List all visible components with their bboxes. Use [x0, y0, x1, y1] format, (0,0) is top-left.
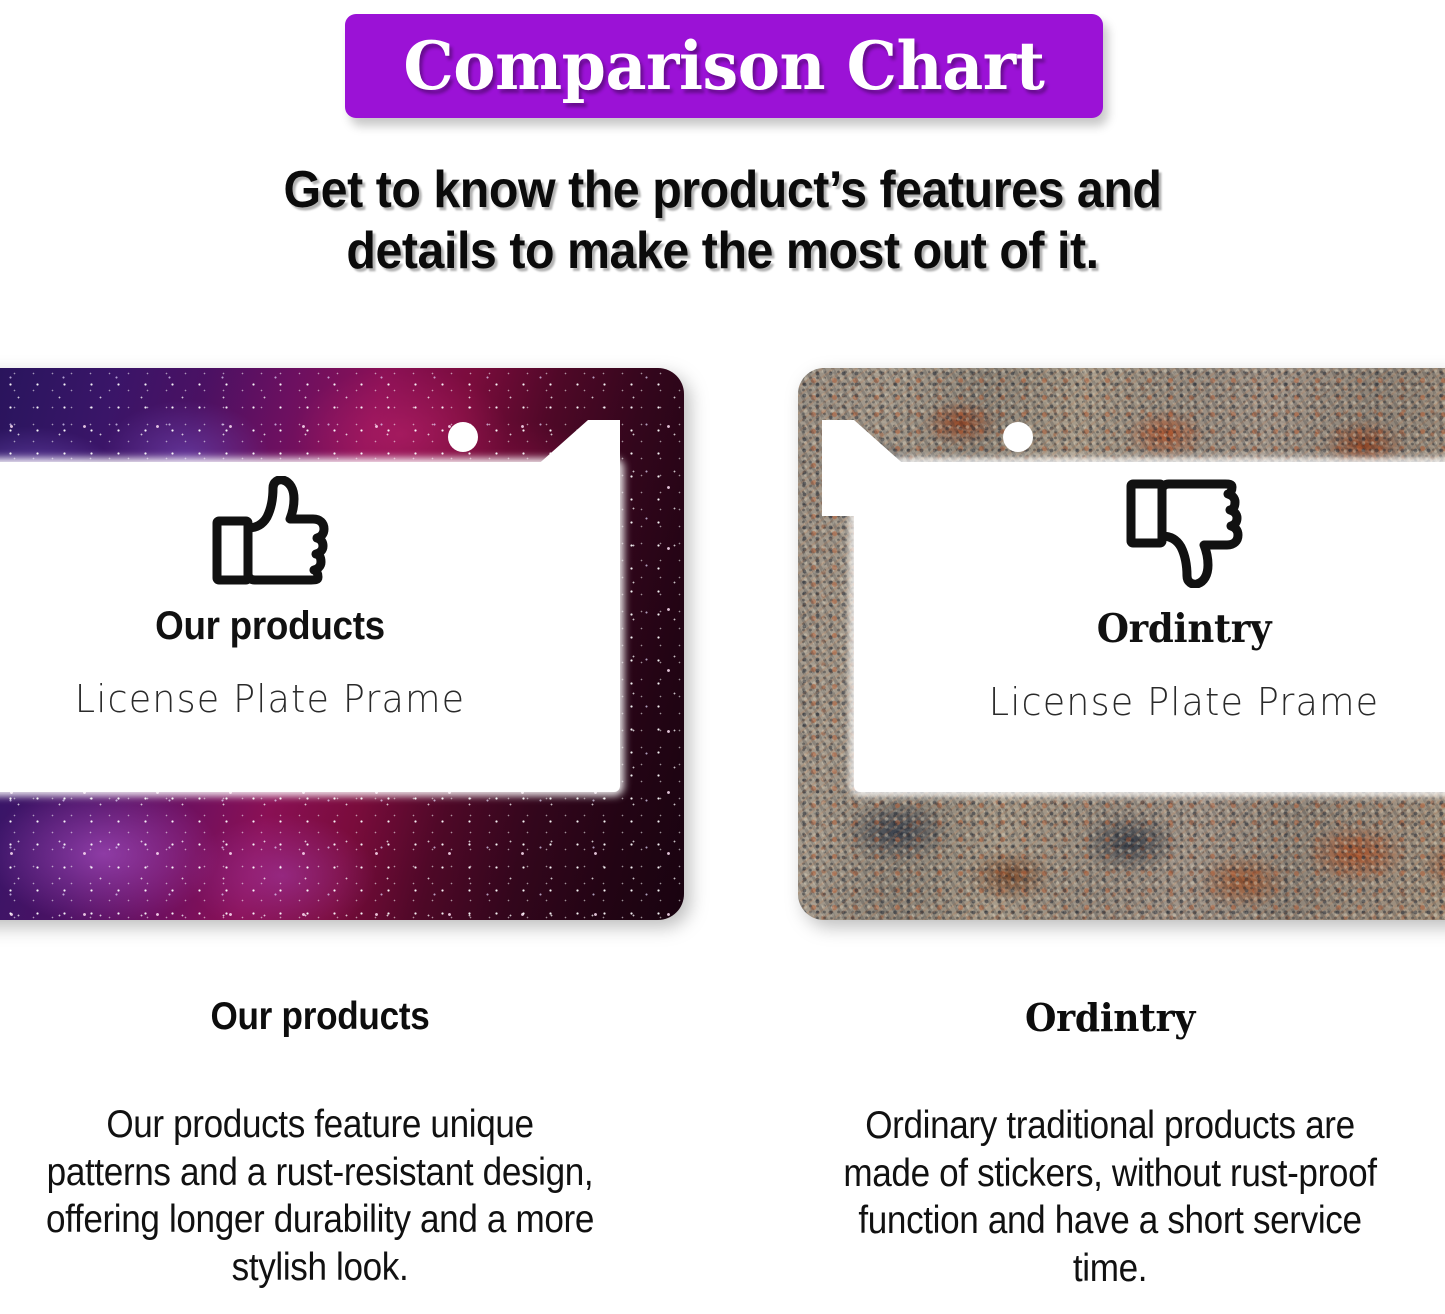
page-title: Comparison Chart — [403, 33, 1044, 99]
frame-content-ours: Our products License Plate Prame — [0, 476, 620, 721]
subtitle-line-2: details to make the most out of it. — [162, 221, 1283, 282]
comparison-column-ordinary: Ordintry Ordinary traditional products a… — [790, 995, 1430, 1292]
frame-content-ordinary: Ordintry License Plate Prame — [854, 476, 1445, 724]
mounting-hole-ordinary — [1003, 422, 1033, 452]
column-description-ordinary: Ordinary traditional products are made o… — [822, 1102, 1398, 1292]
frame-label-ours: Our products — [0, 604, 592, 649]
thumbs-up-icon — [0, 476, 620, 588]
page-subtitle: Get to know the product’s features and d… — [162, 160, 1283, 282]
frame-sublabel-ours: License Plate Prame — [0, 677, 606, 721]
column-description-ours: Our products feature unique patterns and… — [32, 1101, 608, 1291]
thumbs-down-icon — [854, 476, 1445, 588]
title-banner-background: Comparison Chart — [345, 14, 1103, 118]
column-heading-ordinary: Ordintry — [806, 995, 1414, 1040]
column-heading-ours: Our products — [32, 995, 608, 1039]
frame-sublabel-ordinary: License Plate Prame — [867, 680, 1445, 724]
subtitle-line-1: Get to know the product’s features and — [162, 160, 1283, 221]
title-banner: Comparison Chart — [345, 14, 1103, 118]
frame-label-ordinary: Ordintry — [871, 606, 1445, 652]
product-frame-ordinary: Ordintry License Plate Prame — [798, 368, 1445, 920]
comparison-column-ours: Our products Our products feature unique… — [0, 995, 640, 1291]
mounting-hole-ours — [448, 422, 478, 452]
product-frame-ours: Our products License Plate Prame — [0, 368, 684, 920]
